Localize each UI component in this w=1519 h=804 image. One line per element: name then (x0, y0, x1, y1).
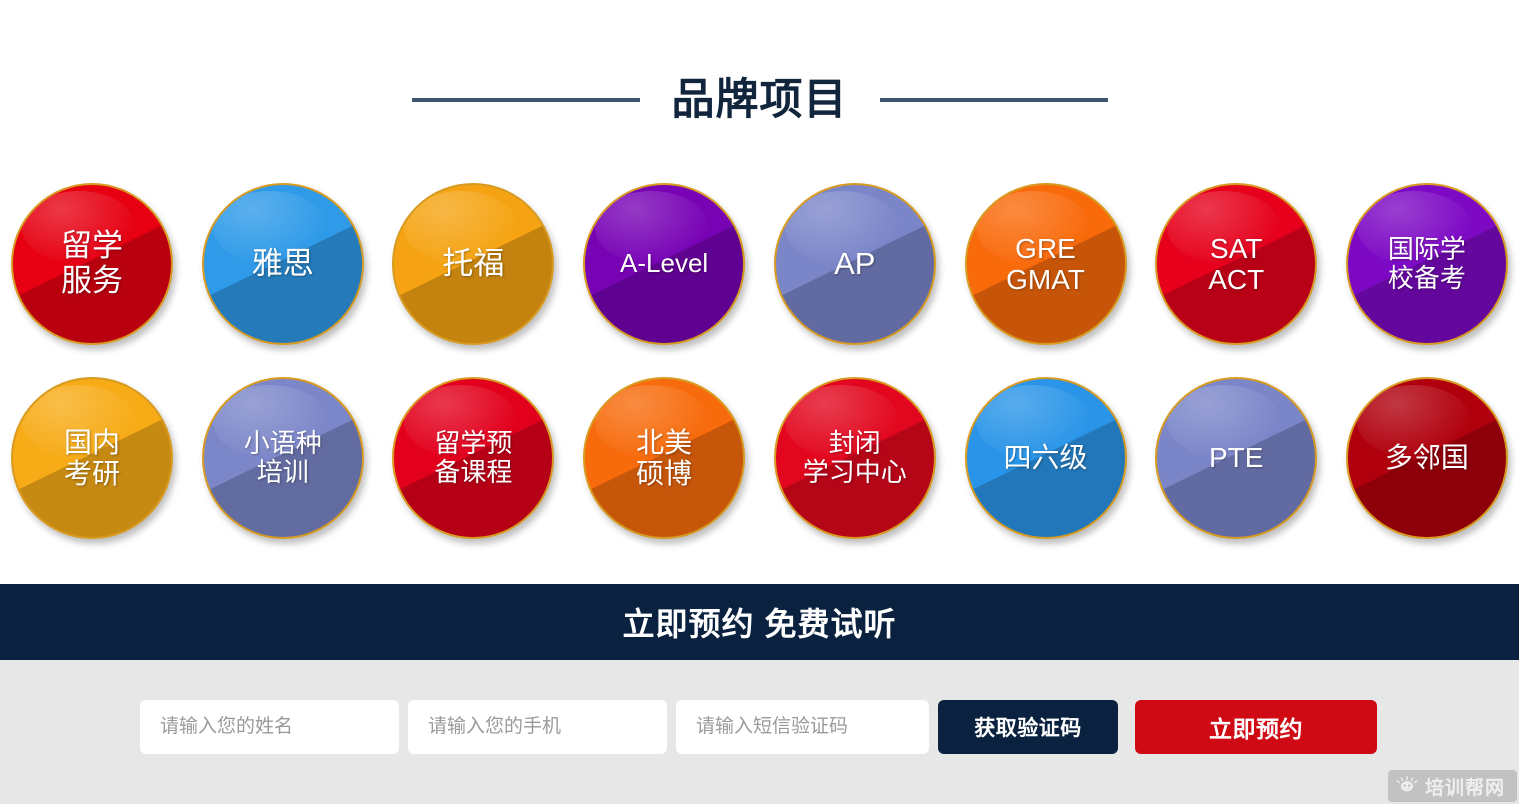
program-bubble-sat-act[interactable]: SAT ACT (1150, 178, 1322, 350)
program-row-1: 留学 服务 雅思 托福 A-Level AP (0, 178, 1519, 350)
circle-badge-icon: A-Level (583, 183, 745, 345)
program-label: 托福 (436, 247, 510, 282)
program-bubble-liuxueyubeikecheng[interactable]: 留学预 备课程 (387, 372, 559, 544)
circle-badge-icon: 四六级 (965, 377, 1127, 539)
circle-badge-icon: 留学 服务 (11, 183, 173, 345)
program-bubble-guoneikaoyan[interactable]: 国内 考研 (6, 372, 178, 544)
program-bubble-siliuji[interactable]: 四六级 (960, 372, 1132, 544)
program-bubble-a-level[interactable]: A-Level (578, 178, 750, 350)
program-label: 国际学 校备考 (1382, 235, 1472, 293)
program-label: 雅思 (246, 247, 320, 282)
sms-code-input[interactable] (676, 700, 929, 754)
program-bubble-ap[interactable]: AP (769, 178, 941, 350)
page-header: 品牌项目 (0, 60, 1519, 140)
program-bubble-duolinguo[interactable]: 多邻国 (1341, 372, 1513, 544)
circle-badge-icon: 小语种 培训 (202, 377, 364, 539)
program-bubble-pte[interactable]: PTE (1150, 372, 1322, 544)
get-sms-code-button[interactable]: 获取验证码 (938, 700, 1118, 754)
program-label: 四六级 (998, 442, 1094, 473)
header-rule-right (880, 98, 1108, 102)
sun-face-icon (1396, 776, 1418, 796)
circle-badge-icon: PTE (1155, 377, 1317, 539)
program-label: PTE (1203, 442, 1269, 473)
circle-badge-icon: 托福 (392, 183, 554, 345)
program-bubble-liuxuefuwu[interactable]: 留学 服务 (6, 178, 178, 350)
program-label: GRE GMAT (1000, 233, 1091, 296)
header-rule-left (412, 98, 640, 102)
circle-badge-icon: 国内 考研 (11, 377, 173, 539)
program-bubble-grid: 留学 服务 雅思 托福 A-Level AP (0, 178, 1519, 554)
circle-badge-icon: SAT ACT (1155, 183, 1317, 345)
program-label: 多邻国 (1379, 442, 1475, 473)
program-bubble-beimeishuobo[interactable]: 北美 硕博 (578, 372, 750, 544)
program-label: 小语种 培训 (238, 429, 328, 487)
program-bubble-yasi[interactable]: 雅思 (197, 178, 369, 350)
program-label: A-Level (614, 249, 714, 278)
circle-badge-icon: AP (774, 183, 936, 345)
watermark-text: 培训帮网 (1425, 773, 1505, 800)
circle-badge-icon: 封闭 学习中心 (774, 377, 936, 539)
circle-badge-icon: 留学预 备课程 (392, 377, 554, 539)
page-title: 品牌项目 (672, 79, 848, 122)
name-input[interactable] (140, 700, 399, 754)
site-watermark: 培训帮网 (1388, 770, 1517, 802)
program-bubble-guojixuexiaobeikao[interactable]: 国际学 校备考 (1341, 178, 1513, 350)
program-label: 留学 服务 (55, 229, 129, 298)
program-label: 封闭 学习中心 (797, 429, 913, 487)
program-label: 国内 考研 (58, 427, 126, 490)
cta-banner-text: 立即预约 免费试听 (623, 599, 897, 645)
program-bubble-gre-gmat[interactable]: GRE GMAT (960, 178, 1132, 350)
program-label: 北美 硕博 (630, 427, 698, 490)
circle-badge-icon: 国际学 校备考 (1346, 183, 1508, 345)
program-label: SAT ACT (1202, 233, 1270, 296)
program-bubble-xiaoyuzhongpeixun[interactable]: 小语种 培训 (197, 372, 369, 544)
program-label: 留学预 备课程 (428, 429, 518, 487)
cta-banner: 立即预约 免费试听 (0, 584, 1519, 660)
circle-badge-icon: 雅思 (202, 183, 364, 345)
circle-badge-icon: 北美 硕博 (583, 377, 745, 539)
program-bubble-fengbixuexizhongxin[interactable]: 封闭 学习中心 (769, 372, 941, 544)
submit-booking-button[interactable]: 立即预约 (1135, 700, 1377, 754)
program-bubble-tuofu[interactable]: 托福 (387, 178, 559, 350)
brand-programs-page: 品牌项目 留学 服务 雅思 托福 A-Level (0, 0, 1519, 804)
program-label: AP (828, 247, 881, 282)
phone-input[interactable] (408, 700, 667, 754)
program-row-2: 国内 考研 小语种 培训 留学预 备课程 北美 硕博 封闭 学习 (0, 372, 1519, 544)
circle-badge-icon: 多邻国 (1346, 377, 1508, 539)
booking-form: 获取验证码 立即预约 (140, 700, 1377, 754)
booking-form-strip: 获取验证码 立即预约 (0, 660, 1519, 804)
circle-badge-icon: GRE GMAT (965, 183, 1127, 345)
